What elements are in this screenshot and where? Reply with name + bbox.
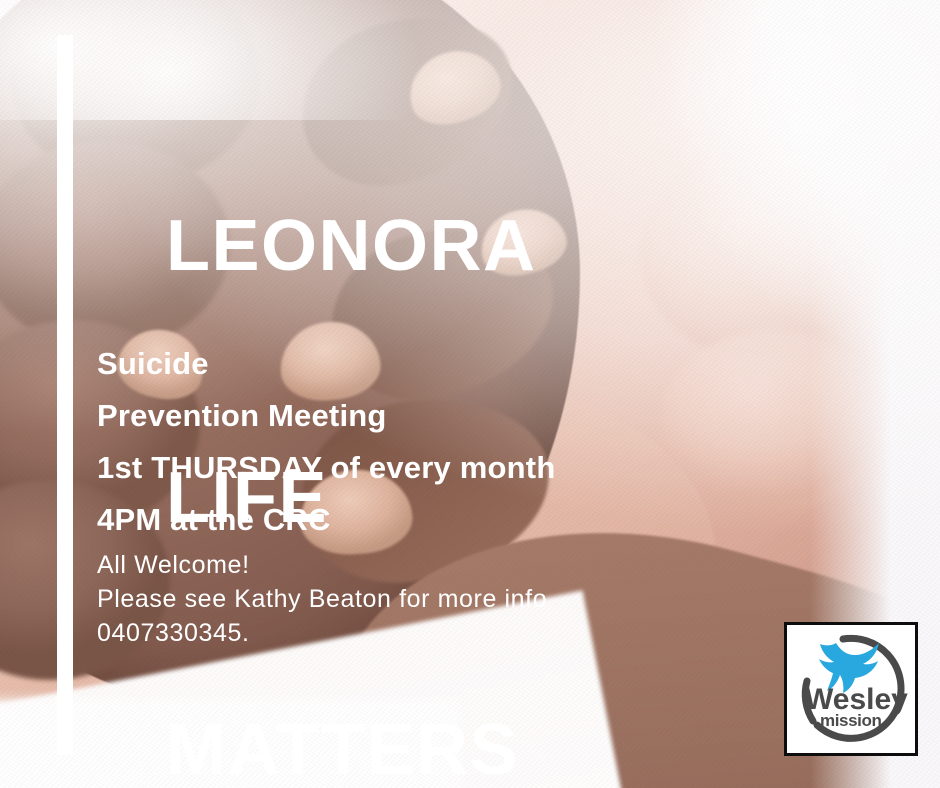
contact-welcome: All Welcome! bbox=[97, 548, 547, 582]
contact-person: Please see Kathy Beaton for more info bbox=[97, 582, 547, 616]
poster: LEONORA LIFE MATTERS Suicide Prevention … bbox=[0, 0, 940, 788]
logo-artwork: Wesley mission bbox=[787, 625, 915, 753]
vertical-divider-rule bbox=[57, 35, 73, 755]
headline-line-1: LEONORA bbox=[166, 204, 537, 288]
contact-info: All Welcome! Please see Kathy Beaton for… bbox=[97, 548, 547, 650]
event-detail-type: Prevention Meeting bbox=[97, 390, 555, 442]
headline-line-3: MATTERS bbox=[166, 708, 537, 788]
event-details: Suicide Prevention Meeting 1st THURSDAY … bbox=[97, 338, 555, 546]
contact-phone: 0407330345. bbox=[97, 616, 547, 650]
wesley-mission-logo: Wesley mission bbox=[784, 622, 918, 756]
event-detail-schedule: 1st THURSDAY of every month bbox=[97, 442, 555, 494]
logo-wordmark-secondary: mission bbox=[820, 711, 881, 730]
logo-inner: Wesley mission bbox=[787, 625, 915, 753]
event-detail-time-location: 4PM at the CRC bbox=[97, 494, 555, 546]
event-detail-subject: Suicide bbox=[97, 338, 555, 390]
